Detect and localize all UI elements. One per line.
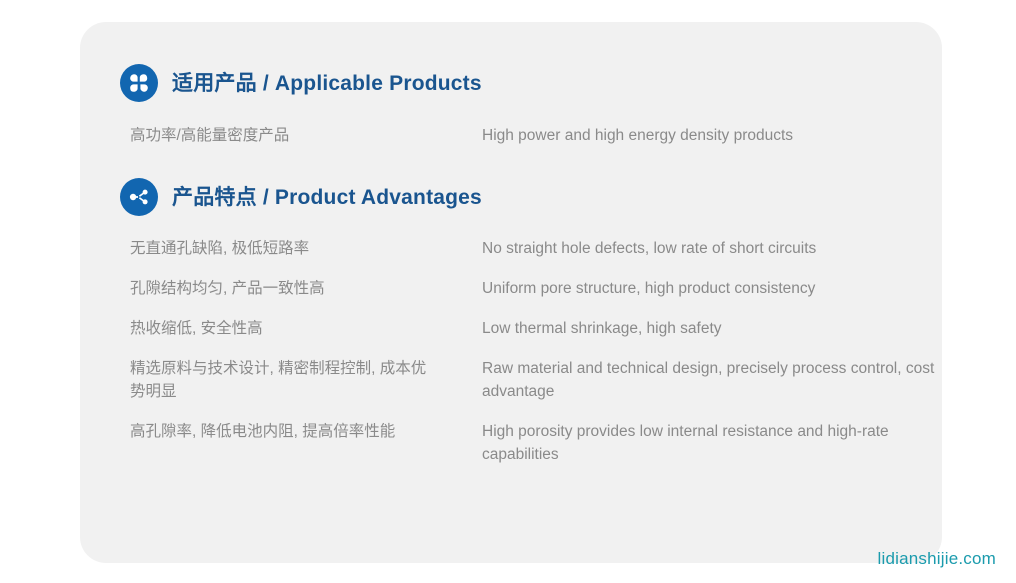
watermark: lidianshijie.com bbox=[878, 549, 996, 569]
section-applicable-products: 适用产品 / Applicable Products 高功率/高能量密度产品 H… bbox=[120, 62, 942, 147]
item-text-cn: 高孔隙率, 降低电池内阻, 提高倍率性能 bbox=[120, 420, 440, 443]
clover-quadrants-icon bbox=[120, 64, 158, 102]
section-title: 产品特点 / Product Advantages bbox=[172, 187, 482, 208]
item-text-en: Uniform pore structure, high product con… bbox=[440, 277, 942, 300]
section-product-advantages: 产品特点 / Product Advantages 无直通孔缺陷, 极低短路率 … bbox=[120, 176, 942, 483]
item-text-en: High porosity provides low internal resi… bbox=[440, 420, 942, 466]
list-item: 孔隙结构均匀, 产品一致性高 Uniform pore structure, h… bbox=[120, 277, 942, 300]
list-item: 高功率/高能量密度产品 High power and high energy d… bbox=[120, 124, 942, 147]
section-header: 适用产品 / Applicable Products bbox=[120, 62, 942, 104]
item-text-en: Low thermal shrinkage, high safety bbox=[440, 317, 942, 340]
item-text-en: Raw material and technical design, preci… bbox=[440, 357, 942, 403]
item-text-cn: 孔隙结构均匀, 产品一致性高 bbox=[120, 277, 440, 300]
network-nodes-icon bbox=[120, 178, 158, 216]
item-text-en: High power and high energy density produ… bbox=[440, 124, 942, 147]
item-text-cn: 热收缩低, 安全性高 bbox=[120, 317, 440, 340]
item-text-cn: 精选原料与技术设计, 精密制程控制, 成本优势明显 bbox=[120, 357, 440, 403]
content-card: 适用产品 / Applicable Products 高功率/高能量密度产品 H… bbox=[80, 22, 942, 563]
section-header: 产品特点 / Product Advantages bbox=[120, 176, 942, 218]
list-item: 无直通孔缺陷, 极低短路率 No straight hole defects, … bbox=[120, 237, 942, 260]
section-title: 适用产品 / Applicable Products bbox=[172, 73, 482, 94]
slide-root: 适用产品 / Applicable Products 高功率/高能量密度产品 H… bbox=[0, 0, 1016, 583]
list-item: 高孔隙率, 降低电池内阻, 提高倍率性能 High porosity provi… bbox=[120, 420, 942, 466]
item-text-cn: 高功率/高能量密度产品 bbox=[120, 124, 440, 147]
list-item: 精选原料与技术设计, 精密制程控制, 成本优势明显 Raw material a… bbox=[120, 357, 942, 403]
item-text-cn: 无直通孔缺陷, 极低短路率 bbox=[120, 237, 440, 260]
section-rows: 高功率/高能量密度产品 High power and high energy d… bbox=[120, 124, 942, 147]
item-text-en: No straight hole defects, low rate of sh… bbox=[440, 237, 942, 260]
list-item: 热收缩低, 安全性高 Low thermal shrinkage, high s… bbox=[120, 317, 942, 340]
section-rows: 无直通孔缺陷, 极低短路率 No straight hole defects, … bbox=[120, 237, 942, 466]
